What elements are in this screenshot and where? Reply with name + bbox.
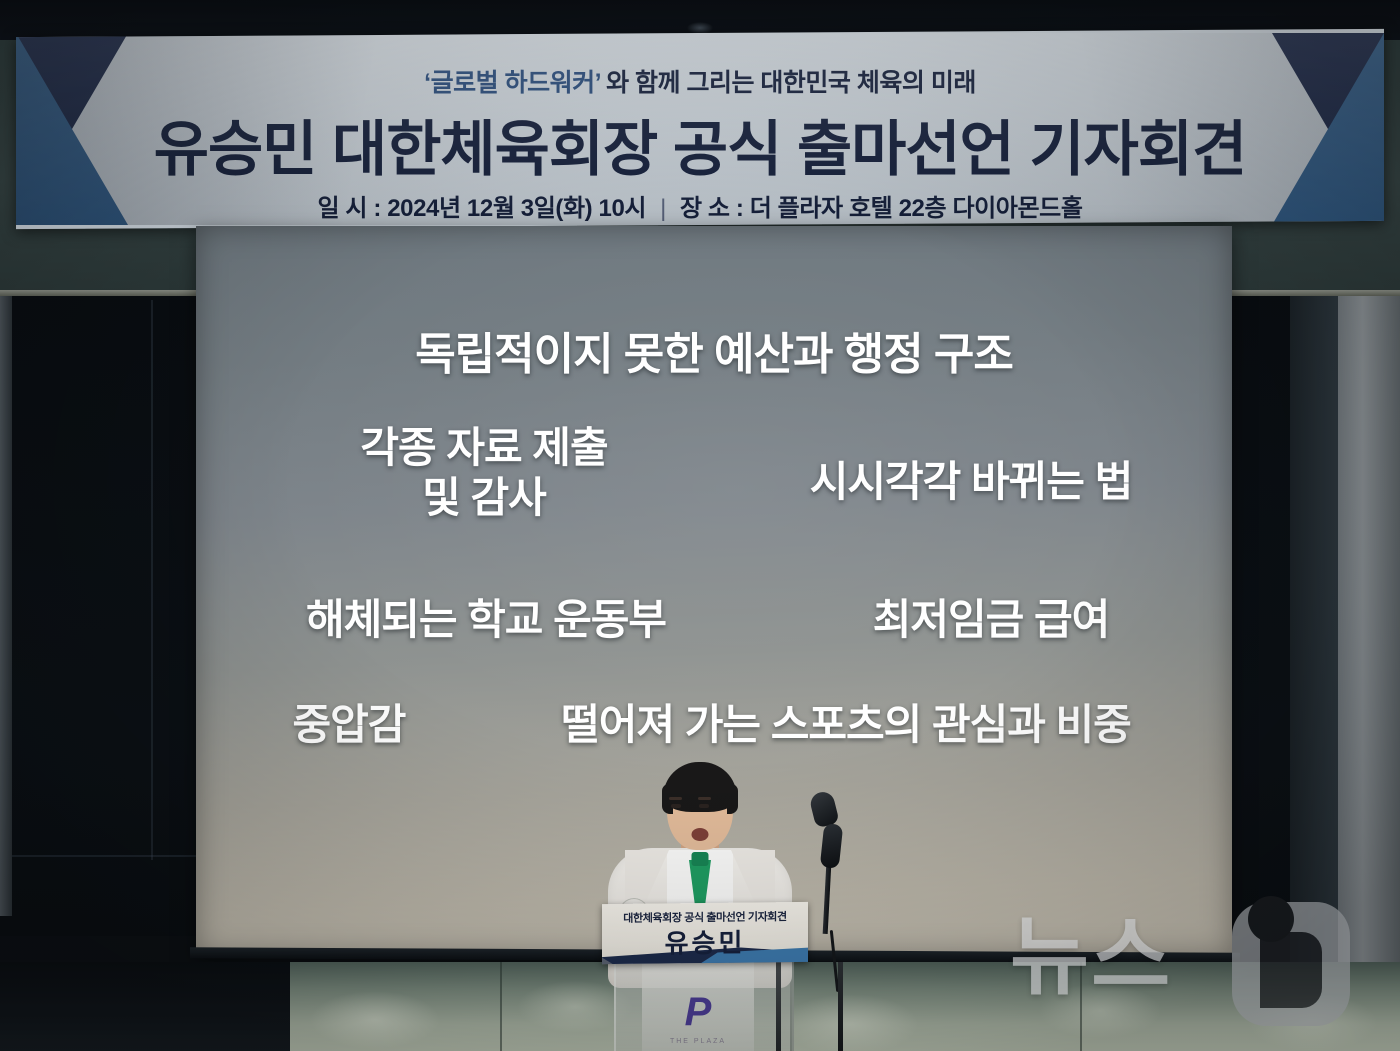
banner-info-datetime: 일 시 : 2024년 12월 3일(화) 10시 xyxy=(317,195,646,222)
banner-subtitle-rest: 와 함께 그리는 대한민국 체육의 미래 xyxy=(600,69,976,97)
nameplate-name: 유승민 xyxy=(602,922,808,961)
wall-seam-left xyxy=(151,300,153,860)
press-conference-photo: ‘글로벌 하드워커’ 와 함께 그리는 대한민국 체육의 미래 유승민 대한체육… xyxy=(0,0,1400,1051)
podium-pole xyxy=(838,962,843,1051)
podium-nameplate: 대한체육회장 공식 출마선언 기자회견 유승민 xyxy=(602,902,808,964)
podium-front-panel: P THE PLAZA xyxy=(642,958,754,1051)
pillar-right-inner xyxy=(1290,296,1338,986)
marble-seam-3 xyxy=(1080,962,1082,1051)
banner-title: 유승민 대한체육회장 공식 출마선언 기자회견 xyxy=(16,101,1384,188)
speaker-mouth xyxy=(692,828,709,841)
speaker-eye-right xyxy=(699,804,709,808)
speaker-tie-knot xyxy=(692,852,709,866)
slide-line-data-submission: 각종 자료 제출 및 감사 xyxy=(274,423,694,522)
pillar-left xyxy=(0,296,12,916)
banner-info-separator: | xyxy=(660,195,666,223)
slide-line-minimum-wage: 최저임금 급여 xyxy=(796,586,1186,647)
banner-info-place: 장 소 : 더 플라자 호텔 22층 다이아몬드홀 xyxy=(680,195,1083,222)
banner-subtitle-quoted: ‘글로벌 하드워커’ xyxy=(424,69,600,97)
slide-line-budget-admin: 독립적이지 못한 예산과 행정 구조 xyxy=(196,318,1232,382)
slide-line-school-teams: 해체되는 학교 운동부 xyxy=(236,586,736,647)
banner-info: 일 시 : 2024년 12월 3일(화) 10시|장 소 : 더 플라자 호텔… xyxy=(16,188,1384,223)
banner-subtitle: ‘글로벌 하드워커’ 와 함께 그리는 대한민국 체육의 미래 xyxy=(16,63,1384,99)
pillar-right xyxy=(1338,296,1400,986)
slide-line-pressure: 중압감 xyxy=(234,691,464,752)
event-banner: ‘글로벌 하드워커’ 와 함께 그리는 대한민국 체육의 미래 유승민 대한체육… xyxy=(16,29,1384,229)
slide-line-declining-interest: 떨어져 가는 스포츠의 관심과 비중 xyxy=(476,691,1216,752)
marble-seam-1 xyxy=(500,962,502,1051)
banner-inner: ‘글로벌 하드워커’ 와 함께 그리는 대한민국 체육의 미래 유승민 대한체육… xyxy=(16,33,1384,225)
plaza-logo-subtext: THE PLAZA xyxy=(670,1038,726,1045)
slide-line-changing-law: 시시각각 바뀌는 법 xyxy=(756,448,1186,509)
lower-wall-dark-left xyxy=(0,962,290,1051)
plaza-logo-icon: P xyxy=(685,992,712,1032)
speaker-eye-left xyxy=(671,804,681,808)
podium: P THE PLAZA xyxy=(614,958,794,1051)
podium-edge xyxy=(776,958,781,1051)
speaker-eyebrow-left xyxy=(669,797,682,800)
speaker-eyebrow-right xyxy=(698,797,711,800)
wall-sill-left xyxy=(0,855,200,857)
